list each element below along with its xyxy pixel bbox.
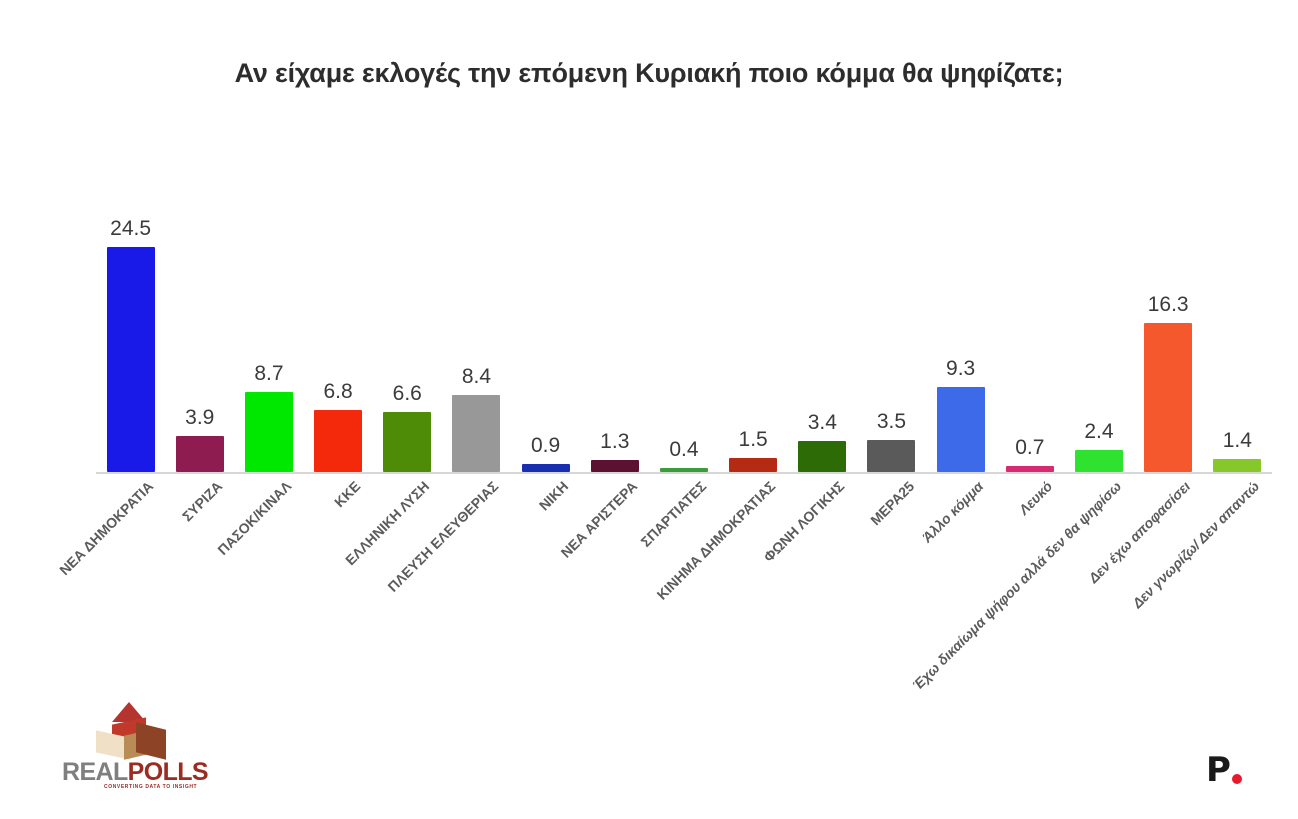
brand-wordmark-real: REAL (62, 758, 128, 786)
bar-value-label: 1.5 (739, 428, 768, 452)
bar-value-label: 0.7 (1015, 436, 1044, 460)
bar[interactable] (867, 440, 915, 472)
bar-slot: 0.9 (511, 197, 580, 472)
x-axis-category-label: Λευκό (1015, 478, 1055, 518)
realpolls-logo: REALPOLLS CONVERTING DATA TO INSIGHT (62, 700, 232, 796)
x-axis-category-label: ΝΕΑ ΔΗΜΟΚΡΑΤΙΑ (56, 478, 156, 578)
bar[interactable] (1075, 450, 1123, 472)
bar[interactable] (591, 460, 639, 472)
bar[interactable] (176, 436, 224, 472)
bar-slot: 9.3 (926, 197, 995, 472)
bar-series: 24.53.98.76.86.68.40.91.30.41.53.43.59.3… (96, 197, 1272, 472)
bar[interactable] (660, 468, 708, 472)
x-axis-category-label: ΚΚΕ (331, 478, 363, 510)
bar-slot: 0.4 (649, 197, 718, 472)
bar-slot: 1.5 (719, 197, 788, 472)
bar-value-label: 8.7 (254, 362, 283, 386)
x-axis-category-label: ΣΠΑΡΤΙΑΤΕΣ (637, 478, 709, 550)
bar-slot: 16.3 (1134, 197, 1203, 472)
bar-value-label: 2.4 (1084, 420, 1113, 444)
bar-value-label: 8.4 (462, 365, 491, 389)
bar[interactable] (383, 412, 431, 473)
bar-value-label: 1.4 (1223, 429, 1252, 453)
bar[interactable] (245, 392, 293, 472)
plot-area: 24.53.98.76.86.68.40.91.30.41.53.43.59.3… (96, 197, 1272, 472)
publisher-mark-dot (1232, 774, 1242, 784)
bar-slot: 3.9 (165, 197, 234, 472)
bar-slot: 6.8 (304, 197, 373, 472)
brand-tagline: CONVERTING DATA TO INSIGHT (104, 784, 197, 790)
cube-logo-icon (90, 700, 176, 762)
bar-value-label: 6.8 (323, 380, 352, 404)
bar-slot: 3.4 (788, 197, 857, 472)
bar-slot: 1.3 (580, 197, 649, 472)
bar[interactable] (937, 387, 985, 472)
x-axis-category-label: Δεν γνωρίζω/ Δεν απαντώ (1130, 478, 1263, 611)
bar-value-label: 9.3 (946, 357, 975, 381)
bar-value-label: 3.5 (877, 410, 906, 434)
bar-value-label: 3.4 (808, 411, 837, 435)
bar-slot: 0.7 (995, 197, 1064, 472)
bar[interactable] (107, 247, 155, 472)
bar[interactable] (522, 464, 570, 472)
publisher-mark: P (1206, 747, 1262, 787)
bar-value-label: 16.3 (1148, 293, 1189, 317)
x-axis-category-label: ΚΙΝΗΜΑ ΔΗΜΟΚΡΑΤΙΑΣ (654, 478, 779, 603)
x-axis-category-label: ΜΕΡΑ25 (867, 478, 917, 528)
brand-wordmark: REALPOLLS (62, 760, 232, 785)
chart-title: Αν είχαμε εκλογές την επόμενη Κυριακή πο… (0, 58, 1298, 89)
bar[interactable] (729, 458, 777, 472)
x-axis-category-label: ΠΑΣΟΚ/ΚΙΝΑΛ (214, 478, 294, 558)
x-axis-line (96, 472, 1272, 474)
bar-slot: 3.5 (857, 197, 926, 472)
bar[interactable] (1213, 459, 1261, 472)
chart-canvas: Αν είχαμε εκλογές την επόμενη Κυριακή πο… (0, 0, 1298, 819)
bar[interactable] (452, 395, 500, 472)
bar-value-label: 0.9 (531, 434, 560, 458)
bar-value-label: 24.5 (110, 217, 151, 241)
publisher-mark-letter: P (1206, 753, 1231, 787)
bar[interactable] (798, 441, 846, 472)
bar-slot: 6.6 (373, 197, 442, 472)
bar-slot: 2.4 (1064, 197, 1133, 472)
bar-value-label: 0.4 (669, 438, 698, 462)
x-axis-category-label: ΣΥΡΙΖΑ (179, 478, 225, 524)
bar-slot: 8.7 (234, 197, 303, 472)
bar-value-label: 3.9 (185, 406, 214, 430)
bar-value-label: 1.3 (600, 430, 629, 454)
bar[interactable] (1006, 466, 1054, 472)
x-axis-category-label: ΝΙΚΗ (535, 478, 571, 514)
x-axis-category-label: Άλλο κόμμα (919, 478, 986, 545)
bar-value-label: 6.6 (393, 382, 422, 406)
brand-wordmark-polls: POLLS (128, 758, 208, 786)
bar-slot: 24.5 (96, 197, 165, 472)
bar-slot: 8.4 (442, 197, 511, 472)
x-axis-category-labels: ΝΕΑ ΔΗΜΟΚΡΑΤΙΑΣΥΡΙΖΑΠΑΣΟΚ/ΚΙΝΑΛΚΚΕΕΛΛΗΝΙ… (96, 478, 1272, 738)
bar-slot: 1.4 (1203, 197, 1272, 472)
bar[interactable] (314, 410, 362, 472)
bar[interactable] (1144, 323, 1192, 472)
